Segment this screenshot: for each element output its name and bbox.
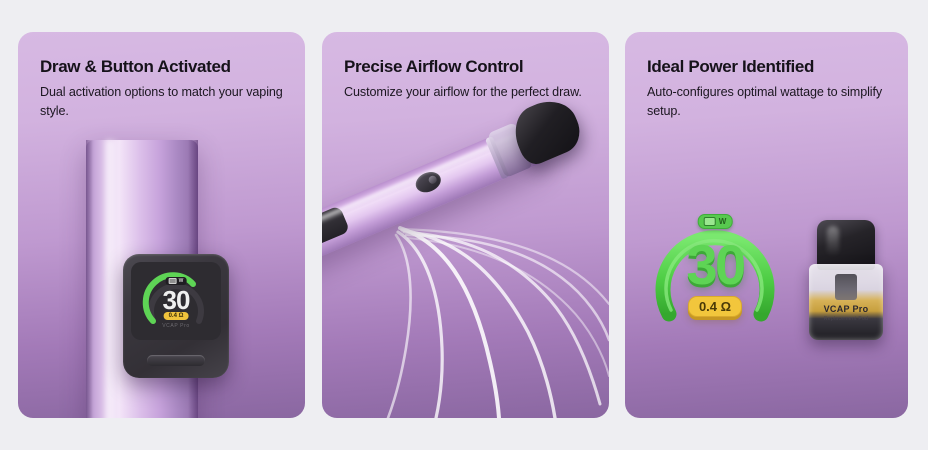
pod-coil (835, 274, 857, 300)
resistance-badge: 0.4 Ω (164, 312, 189, 320)
battery-icon (704, 217, 716, 226)
device-control-panel: W 30 0.4 Ω VCAP Pro (123, 254, 229, 378)
resistance-badge: 0.4 Ω (688, 296, 742, 317)
feature-card-draw-button-activated[interactable]: W 30 0.4 Ω VCAP Pro Draw & Button Activa… (18, 32, 305, 418)
card-description: Auto-configures optimal wattage to simpl… (647, 83, 899, 120)
feature-card-ideal-power-identified[interactable]: W 30 0.4 Ω VCAP Pro Replacement Pod Idea… (625, 32, 908, 418)
battery-icon (169, 278, 177, 284)
pod-brand-label: VCAP Pro (809, 304, 883, 314)
battery-indicator: W (698, 214, 733, 229)
device-brand-label: VCAP Pro (141, 323, 211, 329)
device-screen: W 30 0.4 Ω VCAP Pro (131, 262, 221, 340)
wattage-unit-label: W (719, 217, 727, 226)
fire-button[interactable] (147, 355, 205, 366)
screen-gauge: W 30 0.4 Ω VCAP Pro (141, 266, 211, 334)
battery-indicator: W (166, 277, 187, 285)
card-title: Ideal Power Identified (647, 57, 814, 77)
wattage-value: 30 (645, 232, 785, 297)
pod-tank: VCAP Pro Replacement Pod (809, 264, 883, 340)
wattage-unit-label: W (179, 278, 184, 284)
power-gauge: W 30 0.4 Ω (645, 192, 785, 332)
device-highlight (106, 140, 120, 418)
feature-card-precise-airflow-control[interactable]: Precise Airflow Control Customize your a… (322, 32, 609, 418)
card-description: Dual activation options to match your va… (40, 83, 292, 120)
pod-sub-label: Replacement Pod (809, 316, 883, 322)
card-description: Customize your airflow for the perfect d… (344, 83, 596, 102)
card-title: Precise Airflow Control (344, 57, 523, 77)
pod-cap (817, 220, 875, 270)
card-title: Draw & Button Activated (40, 57, 231, 77)
replacement-pod: VCAP Pro Replacement Pod (803, 220, 889, 348)
feature-cards-board: W 30 0.4 Ω VCAP Pro Draw & Button Activa… (0, 0, 928, 450)
device-edge-left (86, 140, 93, 418)
